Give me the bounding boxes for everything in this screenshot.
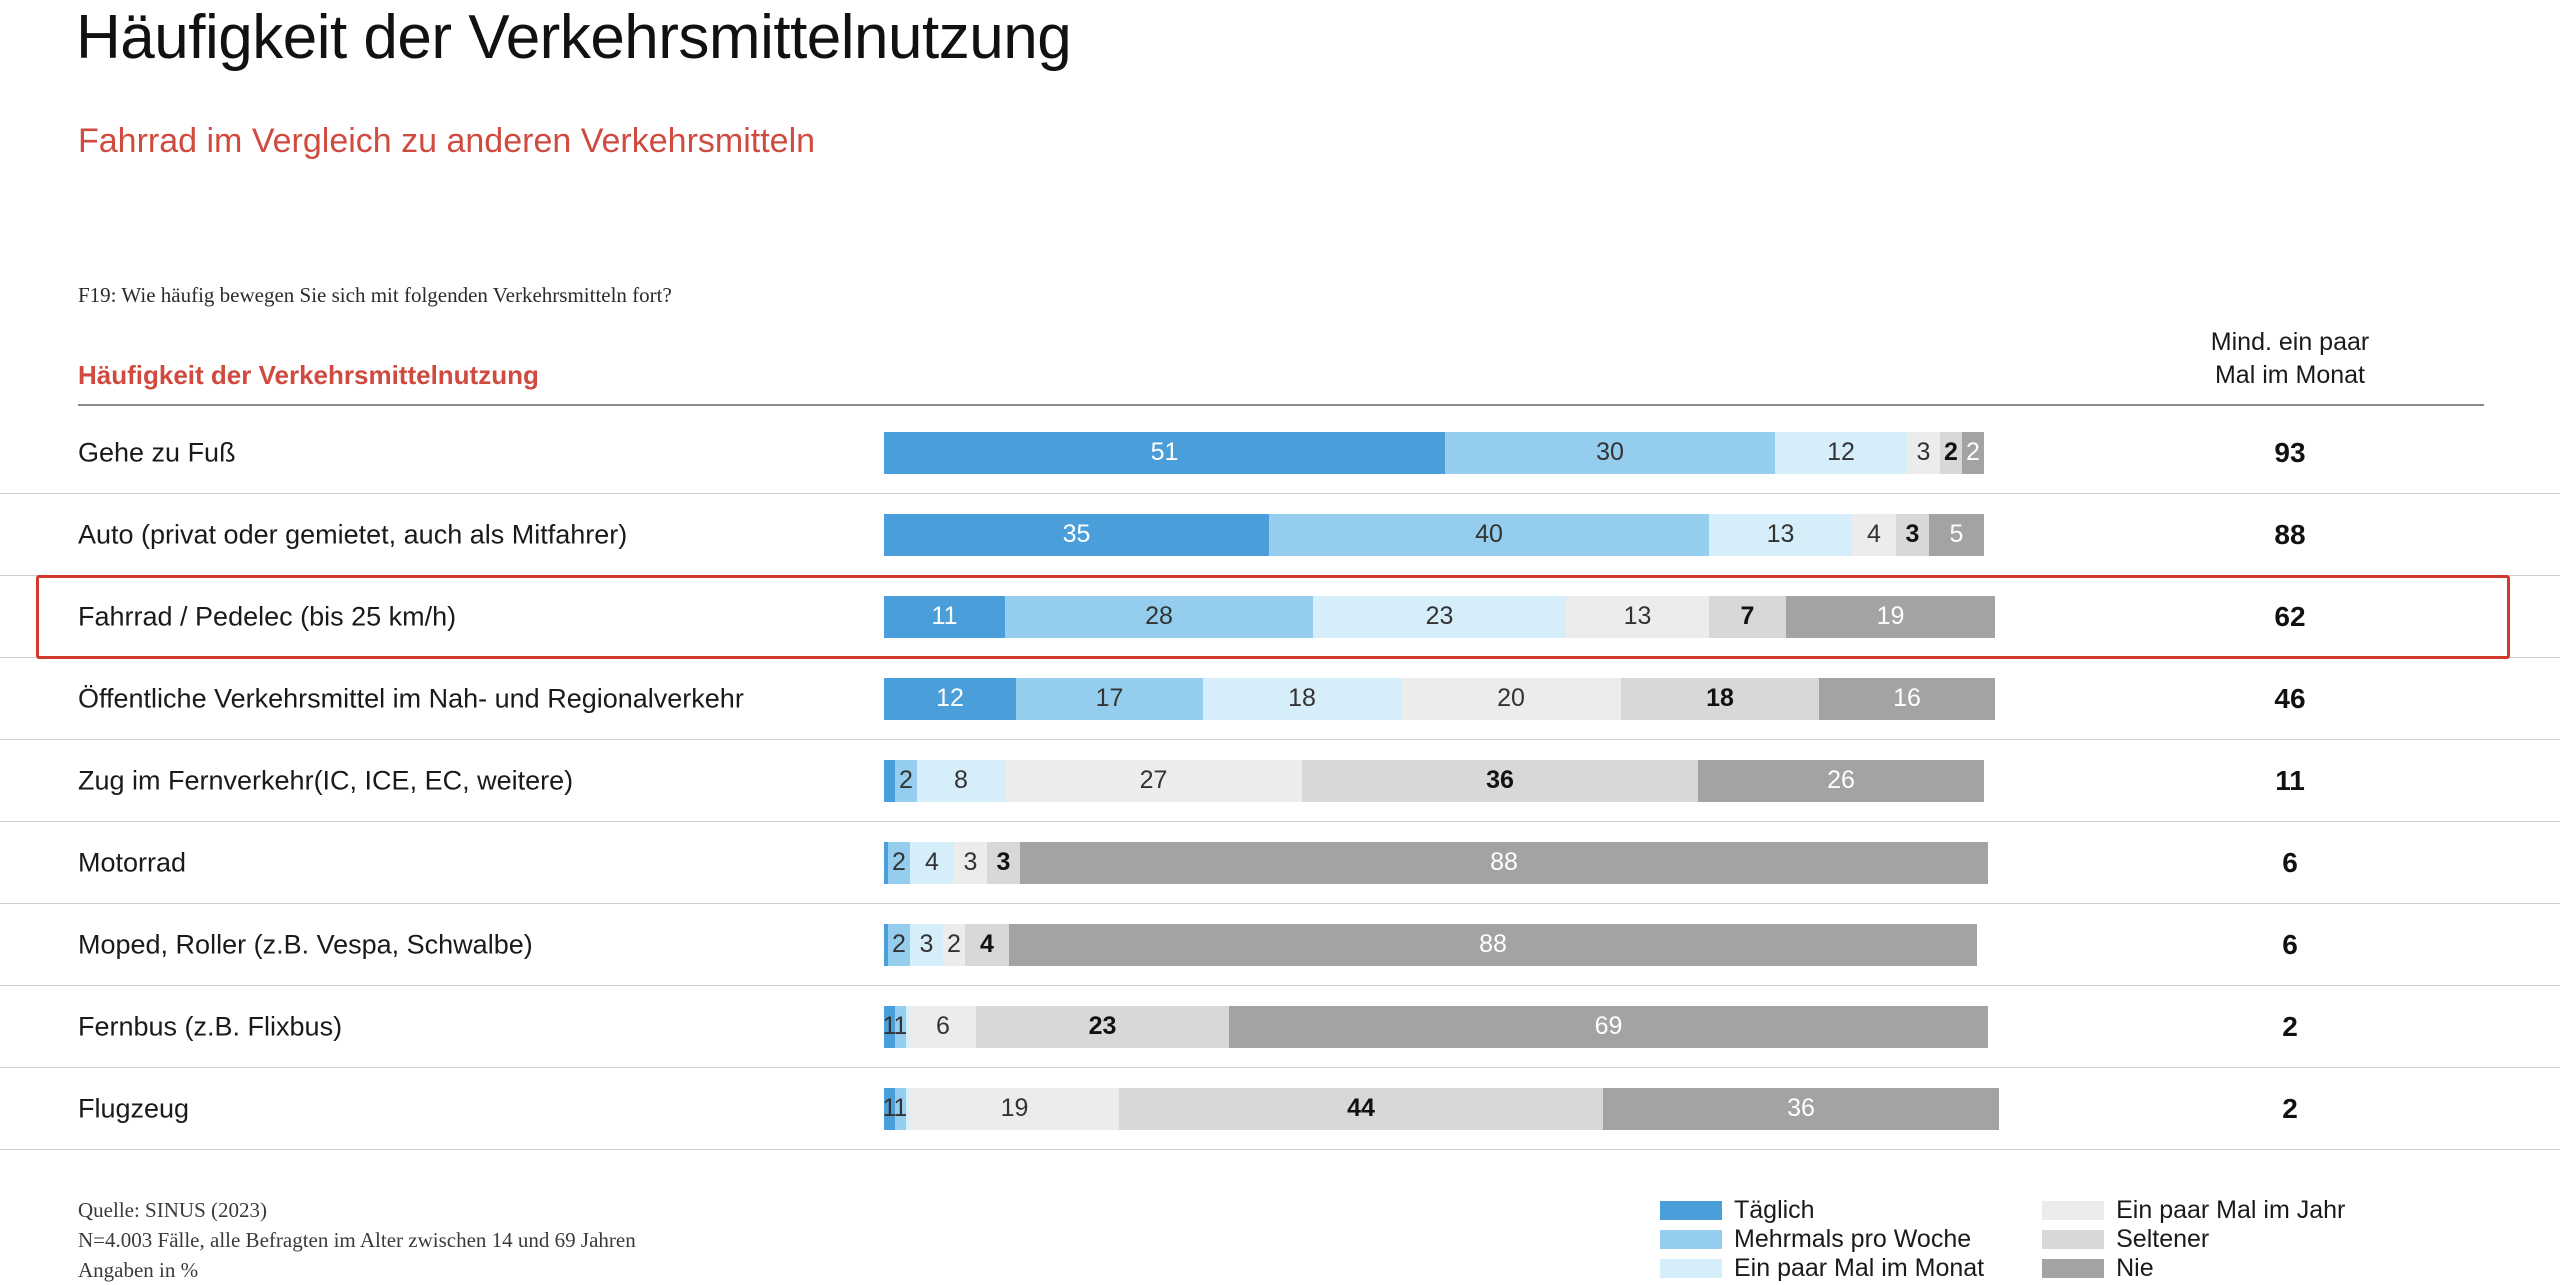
bar-segment-value: 23 [1089,1014,1117,1039]
bar-segment-value: 88 [1490,850,1518,875]
stacked-bar: 11194436 [884,1088,1984,1130]
legend-label: Seltener [2116,1225,2209,1254]
chart-row: Moped, Roller (z.B. Vespa, Schwalbe)2324… [0,904,2560,986]
legend-item: Nie [2042,1254,2345,1283]
row-label: Flugzeug [78,1093,189,1124]
header-divider [78,404,2484,406]
chart-row: Motorrad2433886 [0,822,2560,904]
stacked-bar: 28273626 [884,760,1984,802]
bar-segment-value: 12 [936,686,964,711]
bar-segment-value: 69 [1595,1014,1623,1039]
bar-segment-value: 26 [1827,768,1855,793]
legend-item: Seltener [2042,1225,2345,1254]
row-total: 62 [2185,601,2395,633]
bar-segment: 28 [1005,596,1313,638]
stacked-bar: 121718201816 [884,678,1984,720]
page-title: Häufigkeit der Verkehrsmittelnutzung [76,2,1071,73]
legend-item: Mehrmals pro Woche [1660,1225,1984,1254]
legend-item: Ein paar Mal im Monat [1660,1254,1984,1283]
bar-segment: 88 [1009,924,1977,966]
chart-row: Auto (privat oder gemietet, auch als Mit… [0,494,2560,576]
bar-segment: 4 [910,842,954,884]
row-total: 46 [2185,683,2395,715]
source-line-3: Angaben in % [78,1256,636,1285]
chart-row: Öffentliche Verkehrsmittel im Nah- und R… [0,658,2560,740]
chart-row: Fernbus (z.B. Flixbus)11623692 [0,986,2560,1068]
bar-segment-value: 2 [899,768,913,793]
chart-rows: Gehe zu Fuß51301232293Auto (privat oder … [0,412,2560,1150]
bar-segment: 4 [1852,514,1896,556]
bar-segment: 23 [1313,596,1566,638]
chart-row: Flugzeug111944362 [0,1068,2560,1150]
bar-segment-value: 51 [1151,440,1179,465]
row-label: Auto (privat oder gemietet, auch als Mit… [78,519,627,550]
bar-segment-value: 20 [1497,686,1525,711]
bar-segment: 13 [1709,514,1852,556]
bar-segment-value: 11 [932,604,958,629]
legend-label: Ein paar Mal im Monat [1734,1254,1984,1283]
bar-segment: 51 [884,432,1445,474]
bar-segment: 26 [1698,760,1984,802]
bar-segment-value: 36 [1787,1096,1815,1121]
total-column-header-line2: Mal im Monat [2185,359,2395,392]
total-column-header: Mind. ein paar Mal im Monat [2185,326,2395,392]
row-label: Zug im Fernverkehr(IC, ICE, EC, weitere) [78,765,573,796]
bar-segment-value: 8 [954,768,968,793]
bar-segment: 4 [965,924,1009,966]
bar-segment-value: 2 [1966,440,1980,465]
legend-item: Ein paar Mal im Jahr [2042,1196,2345,1225]
bar-segment: 2 [888,842,910,884]
bar-segment: 2 [895,760,917,802]
bar-segment: 16 [1819,678,1995,720]
bar-segment: 12 [884,678,1016,720]
bar-segment-value: 4 [925,850,939,875]
bar-segment-value: 2 [1944,440,1958,465]
bar-segment: 69 [1229,1006,1988,1048]
stacked-bar: 232488 [884,924,1984,966]
chart-row: Fahrrad / Pedelec (bis 25 km/h)112823137… [0,576,2560,658]
chart-legend: TäglichMehrmals pro WocheEin paar Mal im… [1660,1196,2345,1283]
bar-segment: 27 [1005,760,1302,802]
bar-segment-value: 12 [1827,440,1855,465]
bar-segment-value: 17 [1096,686,1124,711]
legend-swatch-icon [1660,1259,1722,1278]
bar-segment: 5 [1929,514,1984,556]
stacked-bar: 354013435 [884,514,1984,556]
bar-segment-value: 35 [1063,522,1091,547]
bar-segment: 36 [1603,1088,1999,1130]
bar-segment-value: 4 [980,932,994,957]
row-total: 88 [2185,519,2395,551]
bar-segment: 3 [1907,432,1940,474]
bar-segment: 3 [1896,514,1929,556]
bar-segment: 88 [1020,842,1988,884]
bar-segment: 2 [1962,432,1984,474]
bar-segment-value: 3 [964,850,978,875]
chart-row: Gehe zu Fuß51301232293 [0,412,2560,494]
row-total: 6 [2185,929,2395,961]
stacked-bar: 11282313719 [884,596,1984,638]
legend-swatch-icon [2042,1230,2104,1249]
source-note: Quelle: SINUS (2023) N=4.003 Fälle, alle… [78,1196,636,1285]
bar-segment-value: 3 [997,850,1011,875]
bar-segment: 1 [895,1088,906,1130]
bar-segment-value: 3 [1917,440,1931,465]
legend-swatch-icon [2042,1201,2104,1220]
bar-segment: 6 [910,1006,976,1048]
chart-caption: Häufigkeit der Verkehrsmittelnutzung [78,360,539,391]
legend-label: Mehrmals pro Woche [1734,1225,1971,1254]
bar-segment: 17 [1016,678,1203,720]
row-label: Fahrrad / Pedelec (bis 25 km/h) [78,601,456,632]
bar-segment-value: 19 [1877,604,1905,629]
page-subtitle: Fahrrad im Vergleich zu anderen Verkehrs… [78,122,815,161]
bar-segment-value: 88 [1479,932,1507,957]
bar-segment: 7 [1709,596,1786,638]
bar-segment: 3 [954,842,987,884]
bar-segment-value: 3 [1906,522,1920,547]
source-line-1: Quelle: SINUS (2023) [78,1196,636,1226]
legend-swatch-icon [1660,1201,1722,1220]
bar-segment-value: 23 [1426,604,1454,629]
stacked-bar: 513012322 [884,432,1984,474]
row-total: 11 [2185,765,2395,797]
bar-segment: 2 [1940,432,1962,474]
bar-segment: 19 [910,1088,1119,1130]
bar-segment: 12 [1775,432,1907,474]
row-total: 2 [2185,1011,2395,1043]
total-column-header-line1: Mind. ein paar [2185,326,2395,359]
bar-segment: 3 [910,924,943,966]
bar-segment-value: 19 [1001,1096,1029,1121]
legend-label: Nie [2116,1254,2154,1283]
row-total: 6 [2185,847,2395,879]
bar-segment: 2 [943,924,965,966]
bar-segment-value: 28 [1145,604,1173,629]
bar-segment-value: 13 [1767,522,1795,547]
bar-segment: 30 [1445,432,1775,474]
row-label: Moped, Roller (z.B. Vespa, Schwalbe) [78,929,533,960]
bar-segment: 18 [1203,678,1401,720]
bar-segment-value: 2 [947,932,961,957]
row-total: 2 [2185,1093,2395,1125]
stacked-bar: 1162369 [884,1006,1984,1048]
legend-swatch-icon [1660,1230,1722,1249]
bar-segment-value: 3 [920,932,934,957]
legend-item: Täglich [1660,1196,1984,1225]
bar-segment-value: 4 [1867,522,1881,547]
bar-segment-value: 2 [892,850,906,875]
bar-segment-value: 6 [936,1014,950,1039]
legend-label: Täglich [1734,1196,1815,1225]
bar-segment-value: 18 [1706,686,1734,711]
survey-question: F19: Wie häufig bewegen Sie sich mit fol… [78,283,672,308]
row-label: Gehe zu Fuß [78,437,236,468]
source-line-2: N=4.003 Fälle, alle Befragten im Alter z… [78,1226,636,1256]
bar-segment-value: 7 [1741,604,1755,629]
row-label: Öffentliche Verkehrsmittel im Nah- und R… [78,683,744,714]
bar-segment-value: 18 [1288,686,1316,711]
bar-segment-value: 2 [892,932,906,957]
bar-segment-value: 30 [1596,440,1624,465]
bar-segment-value: 27 [1140,768,1168,793]
stacked-bar: 243388 [884,842,1984,884]
bar-segment: 23 [976,1006,1229,1048]
bar-segment [884,760,895,802]
bar-segment: 11 [884,596,1005,638]
bar-segment: 40 [1269,514,1709,556]
bar-segment: 13 [1566,596,1709,638]
bar-segment-value: 40 [1475,522,1503,547]
bar-segment: 35 [884,514,1269,556]
row-label: Fernbus (z.B. Flixbus) [78,1011,342,1042]
legend-column-left: TäglichMehrmals pro WocheEin paar Mal im… [1660,1196,1984,1283]
row-label: Motorrad [78,847,186,878]
bar-segment-value: 13 [1624,604,1652,629]
bar-segment-value: 16 [1893,686,1921,711]
bar-segment-value: 44 [1347,1096,1375,1121]
bar-segment: 44 [1119,1088,1603,1130]
bar-segment: 36 [1302,760,1698,802]
legend-swatch-icon [2042,1259,2104,1278]
legend-column-right: Ein paar Mal im JahrSeltenerNie [2042,1196,2345,1283]
bar-segment: 18 [1621,678,1819,720]
row-total: 93 [2185,437,2395,469]
bar-segment: 8 [917,760,1005,802]
bar-segment: 2 [888,924,910,966]
bar-segment-value: 5 [1950,522,1964,547]
bar-segment: 20 [1401,678,1621,720]
legend-label: Ein paar Mal im Jahr [2116,1196,2345,1225]
chart-row: Zug im Fernverkehr(IC, ICE, EC, weitere)… [0,740,2560,822]
bar-segment: 1 [895,1006,906,1048]
bar-segment: 3 [987,842,1020,884]
bar-segment-value: 36 [1486,768,1514,793]
bar-segment: 19 [1786,596,1995,638]
